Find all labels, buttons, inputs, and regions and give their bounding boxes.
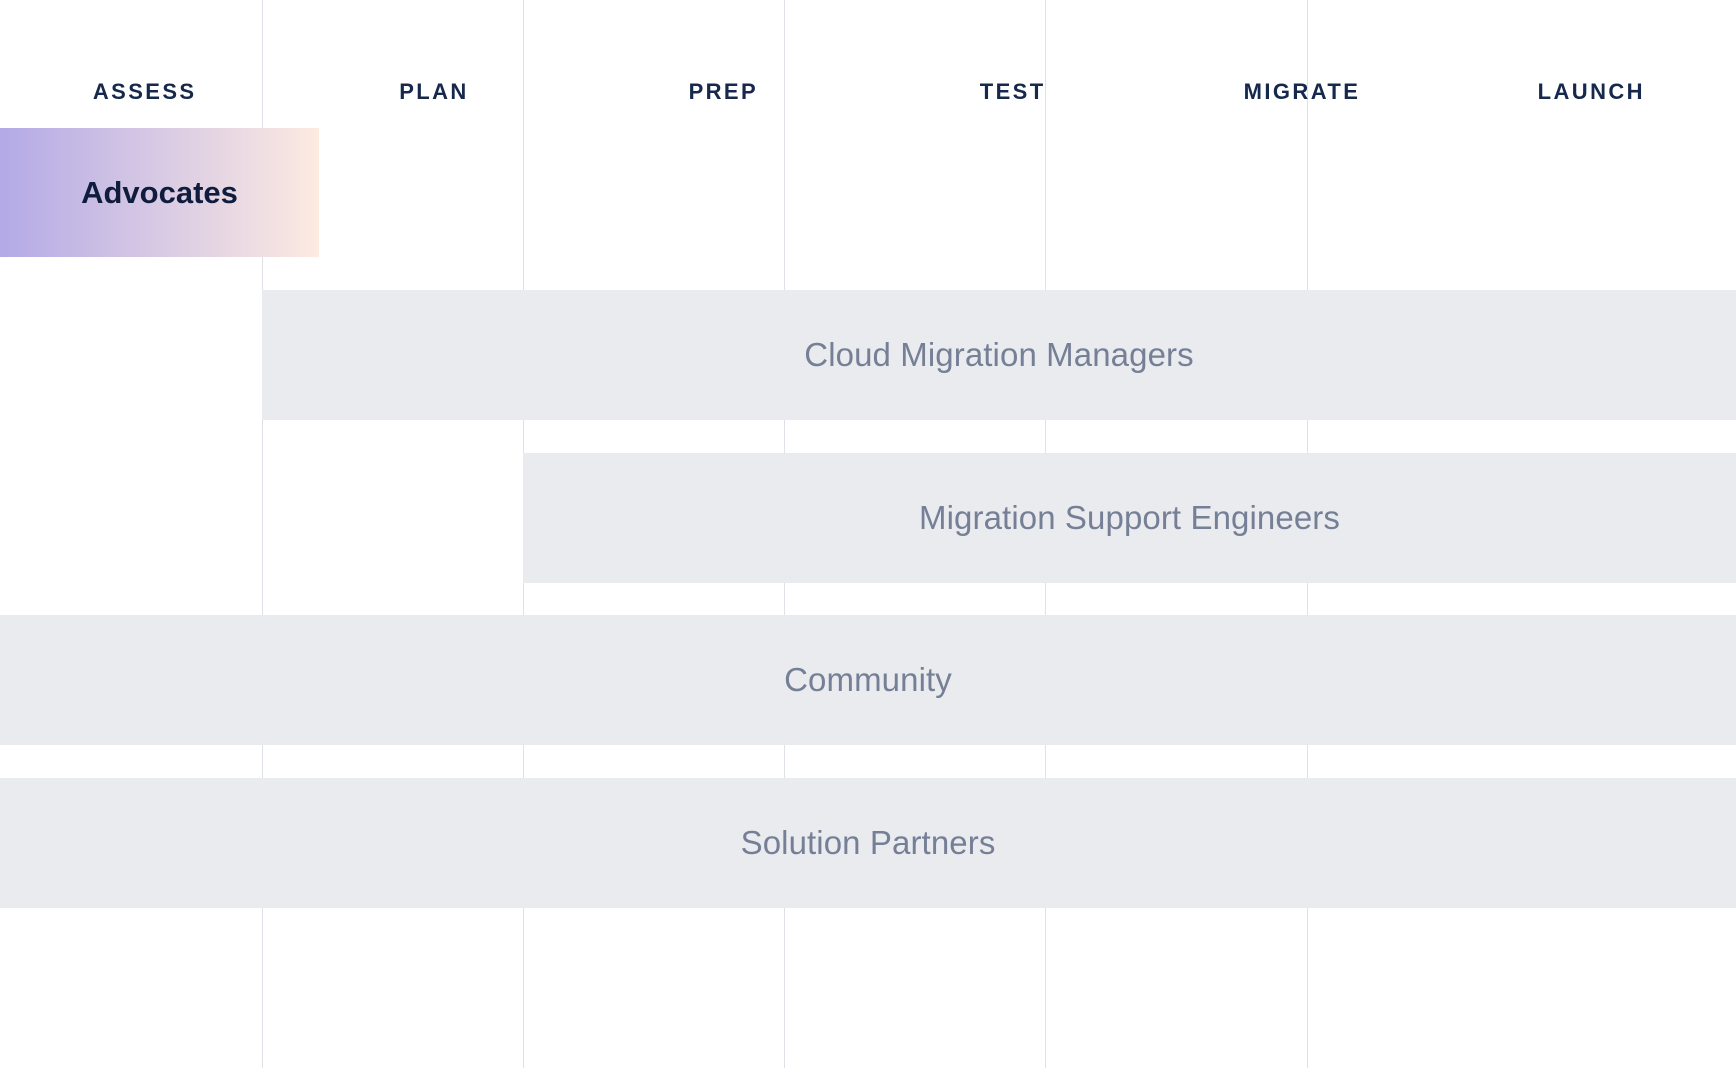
phase-header-label: PLAN [399, 79, 469, 105]
migration-phases-card: AdvocatesCloud Migration ManagersMigrati… [0, 0, 1736, 1068]
phase-header-label: TEST [980, 79, 1046, 105]
role-bar-label: Solution Partners [741, 824, 996, 862]
role-bar-advocates[interactable]: Advocates [0, 128, 319, 257]
phase-header-label: LAUNCH [1538, 79, 1645, 105]
role-bar-label: Cloud Migration Managers [804, 336, 1193, 374]
phase-header-label: PREP [689, 79, 759, 105]
phase-header-launch[interactable]: LAUNCH [1447, 0, 1736, 128]
phase-header-assess[interactable]: ASSESS [0, 0, 289, 128]
role-bar-community[interactable]: Community [0, 615, 1736, 745]
phase-header-test[interactable]: TEST [868, 0, 1157, 128]
role-bar-label: Community [784, 661, 952, 699]
phase-header-migrate[interactable]: MIGRATE [1157, 0, 1446, 128]
phase-header-label: MIGRATE [1244, 79, 1361, 105]
role-bar-cloud-migration-managers[interactable]: Cloud Migration Managers [262, 290, 1736, 420]
phase-header-plan[interactable]: PLAN [289, 0, 578, 128]
role-bar-label: Migration Support Engineers [919, 499, 1340, 537]
role-bar-label: Advocates [81, 175, 238, 211]
phase-header-label: ASSESS [93, 79, 197, 105]
phase-header-row: ASSESS PLAN PREP TEST MIGRATE LAUNCH [0, 0, 1736, 128]
phase-header-prep[interactable]: PREP [579, 0, 868, 128]
role-bars-layer: AdvocatesCloud Migration ManagersMigrati… [0, 0, 1736, 1068]
role-bar-solution-partners[interactable]: Solution Partners [0, 778, 1736, 908]
role-bar-migration-support-engineers[interactable]: Migration Support Engineers [523, 453, 1736, 583]
